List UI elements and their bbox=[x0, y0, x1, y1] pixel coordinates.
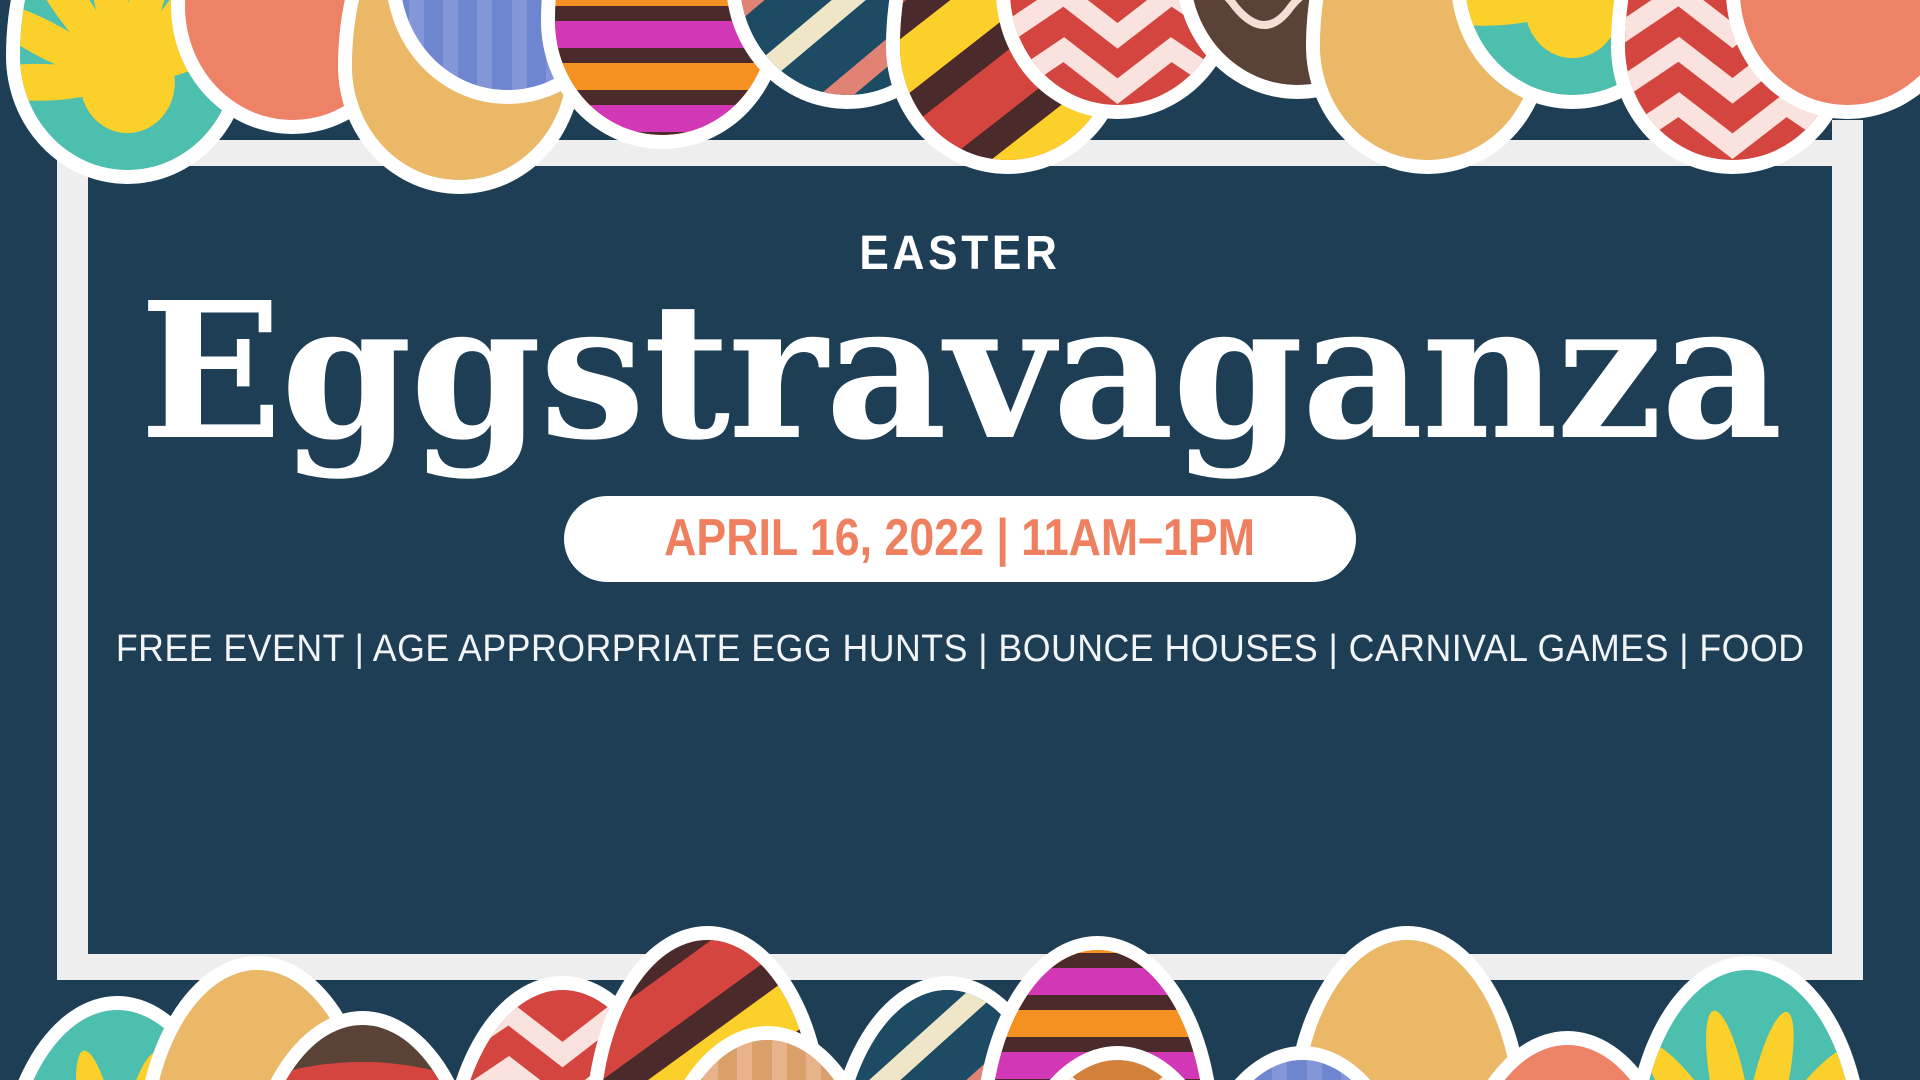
page-title: Eggstravaganza bbox=[0, 282, 1920, 462]
frame-border-left bbox=[57, 120, 88, 980]
egg-coral-dots-right bbox=[1740, 0, 1920, 105]
egg-brown-wave-band bbox=[255, 1025, 470, 1080]
date-time-badge: APRIL 16, 2022 | 11AM–1PM bbox=[564, 496, 1355, 582]
features-list: FREE EVENT | AGE APPRORPRIATE EGG HUNTS … bbox=[116, 628, 1805, 671]
poster-content: EASTER Eggstravaganza APRIL 16, 2022 | 1… bbox=[0, 230, 1920, 671]
egg-teal-flower-right bbox=[1640, 970, 1855, 1080]
date-time-text: APRIL 16, 2022 | 11AM–1PM bbox=[665, 512, 1256, 564]
easter-event-poster: EASTER Eggstravaganza APRIL 16, 2022 | 1… bbox=[0, 0, 1920, 1080]
egg-blue-vstripes bbox=[1195, 1060, 1410, 1080]
egg-orange-magenta-stripes bbox=[555, 0, 770, 135]
easter-egg-border-bottom bbox=[0, 860, 1920, 1080]
egg-orange-chevron bbox=[1010, 1060, 1225, 1080]
frame-border-right bbox=[1832, 120, 1863, 980]
easter-egg-border-top bbox=[0, 0, 1920, 180]
